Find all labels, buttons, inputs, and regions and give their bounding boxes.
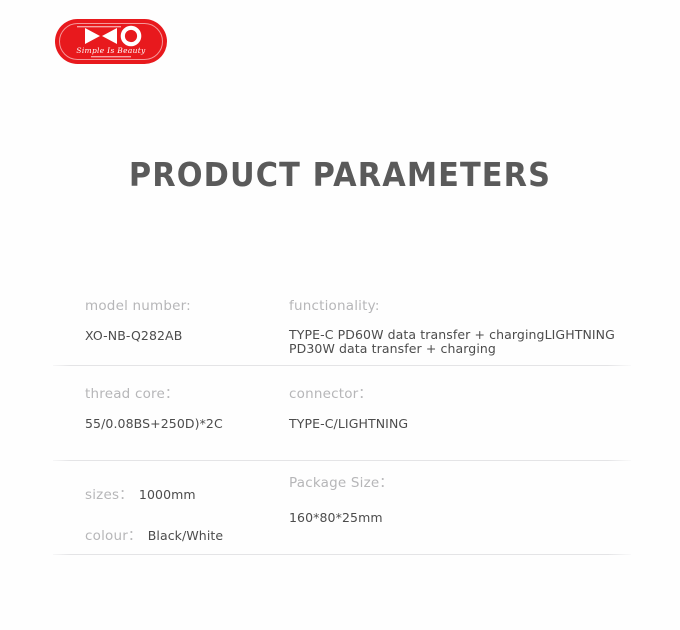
field-value: TYPE-C/LIGHTNING xyxy=(289,416,631,431)
field-label: connector： xyxy=(289,382,631,402)
field-value: Black/White xyxy=(148,528,223,543)
field-label: model number: xyxy=(85,298,278,314)
logo-tagline: Simple Is Beauty xyxy=(55,46,167,55)
field-label: colour： xyxy=(85,524,142,544)
field-label: thread core： xyxy=(85,382,278,402)
xo-brand-logo: Simple Is Beauty xyxy=(55,19,167,64)
field-value: 160*80*25mm xyxy=(289,510,631,525)
field-value: XO-NB-Q282AB xyxy=(85,328,278,343)
spec-row: sizes： 1000mm colour： Black/White Packag… xyxy=(53,461,631,555)
field-value: 1000mm xyxy=(139,487,196,502)
field-label: sizes： xyxy=(85,483,133,503)
spec-row: model number: XO-NB-Q282AB functionality… xyxy=(53,282,631,366)
field-value: TYPE-C PD60W data transfer + chargingLIG… xyxy=(289,328,629,356)
spec-field-sizes: sizes： 1000mm xyxy=(85,483,278,503)
field-value: 55/0.08BS+250D)*2C xyxy=(85,416,278,431)
spec-cell-functionality: functionality: TYPE-C PD60W data transfe… xyxy=(278,282,631,366)
specs-table: model number: XO-NB-Q282AB functionality… xyxy=(53,282,631,555)
logo-xo-mark-icon xyxy=(55,19,167,64)
field-label: functionality: xyxy=(289,298,631,314)
product-parameters-page: Simple Is Beauty PRODUCT PARAMETERS mode… xyxy=(0,0,680,630)
spec-row: thread core： 55/0.08BS+250D)*2C connecto… xyxy=(53,366,631,461)
row-divider xyxy=(53,554,631,555)
spec-field-colour: colour： Black/White xyxy=(85,524,278,544)
field-label: Package Size： xyxy=(289,471,631,491)
spec-cell-package-size: Package Size： 160*80*25mm xyxy=(278,461,631,555)
spec-cell-model-number: model number: XO-NB-Q282AB xyxy=(53,282,278,366)
spec-cell-connector: connector： TYPE-C/LIGHTNING xyxy=(278,366,631,461)
page-title: PRODUCT PARAMETERS xyxy=(27,155,653,194)
spec-cell-sizes-colour: sizes： 1000mm colour： Black/White xyxy=(53,461,278,555)
spec-cell-thread-core: thread core： 55/0.08BS+250D)*2C xyxy=(53,366,278,461)
